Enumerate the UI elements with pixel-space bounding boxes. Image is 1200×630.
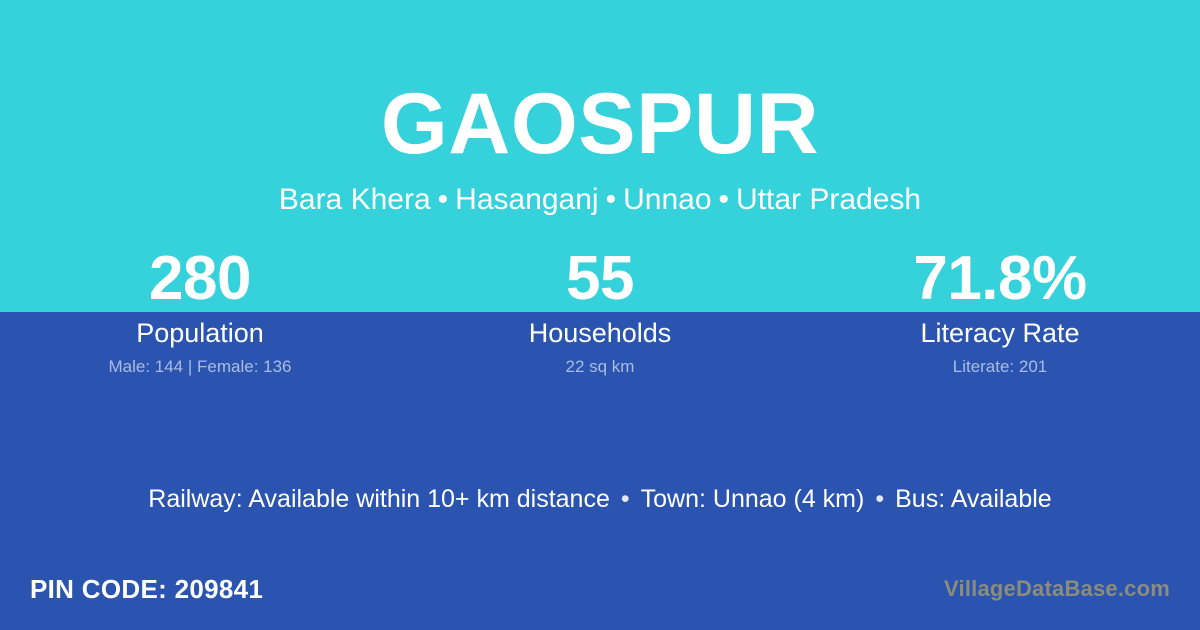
stat-value-population: 280 — [0, 245, 400, 312]
stat-value-households: 55 — [400, 245, 800, 312]
amenity-separator: • — [610, 485, 641, 513]
breadcrumb-item-state: Uttar Pradesh — [736, 183, 921, 216]
breadcrumb-item-block: Hasanganj — [455, 183, 598, 216]
breadcrumb-item-district: Unnao — [623, 183, 711, 216]
breadcrumb-separator: • — [431, 183, 456, 216]
breadcrumb-separator: • — [599, 183, 624, 216]
stat-label-population: Population — [0, 317, 400, 349]
card-footer: PIN CODE: 209841 VillageDataBase.com — [0, 573, 1200, 618]
stat-detail-population: Male: 144 | Female: 136 — [0, 356, 400, 377]
amenity-separator: • — [864, 485, 895, 513]
stat-detail-literacy-rate: Literate: 201 — [800, 356, 1200, 377]
site-brand-logo: VillageDataBase.com — [944, 575, 1170, 603]
breadcrumb-separator: • — [712, 183, 737, 216]
stat-label-literacy-rate: Literacy Rate — [800, 317, 1200, 349]
amenity-railway: Railway: Available within 10+ km distanc… — [148, 485, 610, 513]
stat-detail-households: 22 sq km — [400, 356, 800, 377]
stat-label-households: Households — [400, 317, 800, 349]
amenity-bus: Bus: Available — [895, 485, 1052, 513]
breadcrumb-item-village: Bara Khera — [279, 183, 431, 216]
amenities-summary: Railway: Available within 10+ km distanc… — [0, 483, 1200, 515]
stat-value-literacy-rate: 71.8% — [800, 245, 1200, 312]
breadcrumb: Bara Khera•Hasanganj•Unnao•Uttar Pradesh — [0, 182, 1200, 218]
stat-households: 55 Households 22 sq km — [400, 245, 800, 377]
page-title: GAOSPUR — [0, 76, 1200, 172]
pin-code-label: PIN CODE: 209841 — [30, 573, 263, 605]
village-info-card: GAOSPUR Bara Khera•Hasanganj•Unnao•Uttar… — [0, 0, 1200, 630]
stats-row: 280 Population Male: 144 | Female: 136 5… — [0, 245, 1200, 377]
amenity-town: Town: Unnao (4 km) — [641, 485, 865, 513]
stat-literacy-rate: 71.8% Literacy Rate Literate: 201 — [800, 245, 1200, 377]
stat-population: 280 Population Male: 144 | Female: 136 — [0, 245, 400, 377]
